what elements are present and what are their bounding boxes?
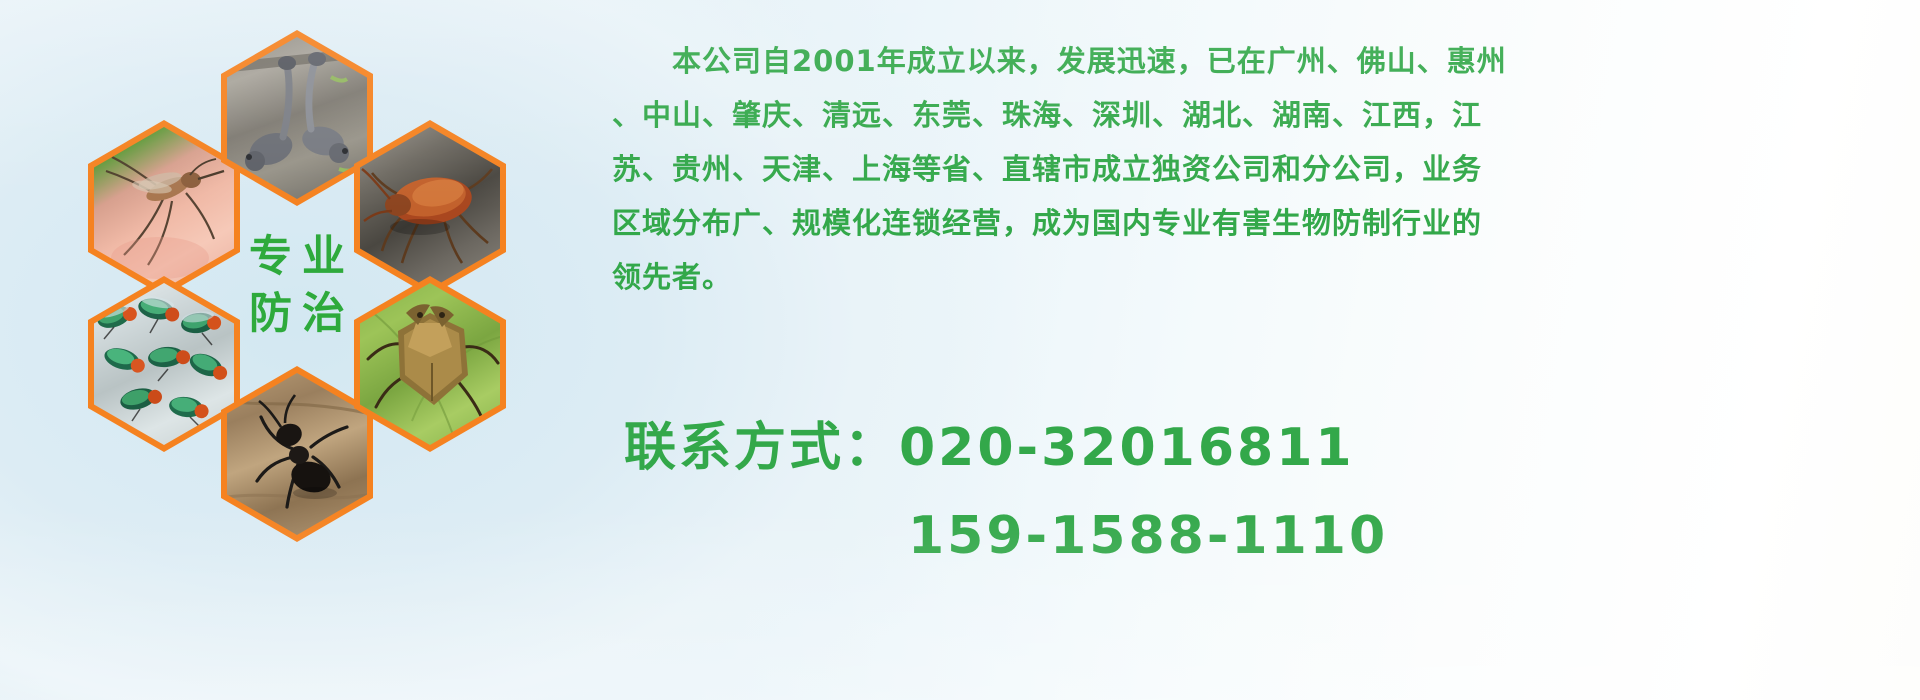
contact-block: 联系方式：020-32016811 159-1588-1110 — [624, 404, 1824, 580]
center-label-line-1: 专业 — [239, 236, 355, 279]
hex-cell-ant[interactable] — [221, 366, 373, 542]
stink-bug-icon — [360, 283, 500, 445]
hex-cell-stink-bug[interactable] — [354, 276, 506, 452]
hex-photo-rats — [227, 37, 367, 199]
ant-icon — [227, 373, 367, 535]
rodent-icon — [227, 37, 367, 199]
hex-photo-cockroach — [360, 127, 500, 289]
flies-icon — [94, 283, 234, 445]
intro-line-5: 领先者。 — [612, 250, 1862, 304]
hex-photo-flies — [94, 283, 234, 445]
hex-cell-mosquito[interactable] — [88, 120, 240, 296]
hex-cell-cockroach[interactable] — [354, 120, 506, 296]
cockroach-icon — [360, 127, 500, 289]
intro-line-4: 区域分布广、规模化连锁经营，成为国内专业有害生物防制行业的 — [612, 196, 1862, 250]
intro-line-1: 本公司自2001年成立以来，发展迅速，已在广州、佛山、惠州 — [612, 34, 1862, 88]
honeycomb-center-label: 专业 防治 — [221, 198, 373, 374]
hex-photo-ant — [227, 373, 367, 535]
hex-photo-mosquito — [94, 127, 234, 289]
contact-line-secondary[interactable]: 159-1588-1110 — [624, 492, 1824, 580]
center-label-line-2: 防治 — [239, 293, 355, 336]
hex-photo-stink-bug — [360, 283, 500, 445]
hex-cell-rats[interactable] — [221, 30, 373, 206]
company-intro-paragraph: 本公司自2001年成立以来，发展迅速，已在广州、佛山、惠州 、中山、肇庆、清远、… — [612, 34, 1862, 304]
contact-line-primary[interactable]: 联系方式：020-32016811 — [624, 404, 1824, 492]
intro-line-3: 苏、贵州、天津、上海等省、直辖市成立独资公司和分公司，业务 — [612, 142, 1862, 196]
honeycomb-gallery: 专业 防治 — [88, 0, 588, 574]
promo-banner: 专业 防治 本公司自2001年成立以来，发展迅速，已在广州、佛山、惠州 、中山、… — [0, 0, 1920, 700]
hex-cell-flies[interactable] — [88, 276, 240, 452]
intro-line-2: 、中山、肇庆、清远、东莞、珠海、深圳、湖北、湖南、江西，江 — [612, 88, 1862, 142]
